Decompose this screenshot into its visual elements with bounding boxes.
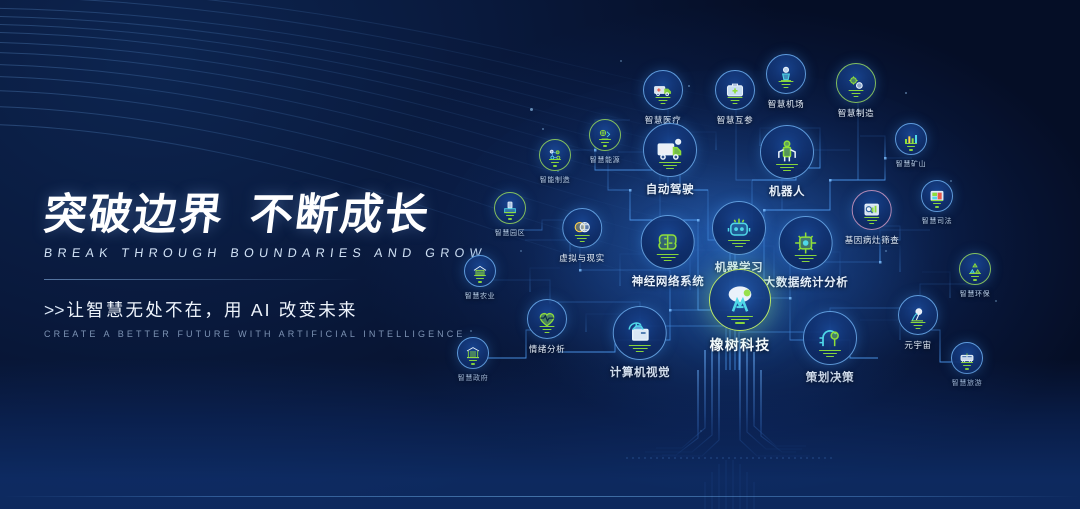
node-base-lines (728, 238, 750, 247)
node-ring (562, 208, 602, 248)
node-label: 自动驾驶 (643, 181, 697, 197)
node-ring (803, 311, 857, 365)
node-label: 智慧互参 (715, 114, 755, 126)
node-base-lines (864, 215, 879, 224)
node-ring (464, 255, 496, 287)
node-label: 智慧能源 (589, 155, 621, 165)
tree-node[interactable]: 元宇宙 (898, 295, 938, 351)
node-ring (494, 192, 526, 224)
tree-node[interactable]: 智慧制造 (836, 63, 876, 119)
hero-subtitle: >>让智慧无处不在，用 AI 改变未来 (44, 297, 464, 322)
tree-node[interactable]: 智慧园区 (494, 192, 526, 238)
node-label: 基因病灶筛查 (845, 234, 900, 246)
node-base-lines (931, 198, 943, 207)
node-label: 智慧司法 (921, 216, 953, 226)
page-title-part2: 不断成长 (247, 190, 433, 240)
tree-node[interactable]: 自动驾驶 (643, 123, 697, 197)
node-base-lines (659, 160, 681, 169)
chevron-right-icon: >> (44, 300, 64, 320)
poster-canvas: 突破边界不断成长 BREAK THROUGH BOUNDARIES AND GR… (0, 0, 1080, 509)
page-title-english: BREAK THROUGH BOUNDARIES AND GROW (43, 246, 465, 260)
tree-node[interactable]: 智慧农业 (464, 255, 496, 301)
horizon-line (0, 496, 1080, 497)
node-ring (760, 125, 814, 179)
node-ring (643, 70, 683, 110)
node-label: 大数据统计分析 (764, 274, 849, 290)
node-base-lines (657, 252, 679, 261)
hero-subtitle-english: CREATE A BETTER FUTURE WITH ARTIFICIAL I… (44, 329, 464, 339)
tree-node[interactable]: 智能制造 (539, 139, 571, 185)
node-base-lines (549, 157, 561, 166)
node-base-lines (969, 271, 981, 280)
node-label: 智慧矿山 (895, 159, 927, 169)
node-label: 元宇宙 (898, 339, 938, 351)
hero-text-block: 突破边界不断成长 BREAK THROUGH BOUNDARIES AND GR… (44, 193, 464, 339)
tree-node[interactable]: 机器学习 (712, 201, 766, 275)
node-label: 智慧机场 (766, 98, 806, 110)
tree-node[interactable]: 智慧能源 (589, 119, 621, 165)
node-label: 神经网络系统 (632, 273, 705, 289)
tree-node[interactable]: 机器人 (760, 125, 814, 199)
node-label: 智慧环保 (959, 289, 991, 299)
divider (44, 279, 362, 280)
node-label: 智能制造 (539, 175, 571, 185)
node-label: 智慧园区 (494, 228, 526, 238)
node-base-lines (574, 233, 589, 242)
node-ring (921, 180, 953, 212)
page-title-part1: 突破边界 (41, 190, 227, 240)
node-base-lines (776, 162, 798, 171)
node-base-lines (504, 210, 516, 219)
node-base-lines (779, 79, 794, 88)
node-ring (959, 253, 991, 285)
tree-node[interactable]: 智慧互参 (715, 70, 755, 126)
node-ring (766, 54, 806, 94)
floor-reflection (0, 359, 1080, 509)
tree-node[interactable]: 智慧医疗 (643, 70, 683, 126)
node-ring (852, 190, 892, 230)
tree-node[interactable]: 智慧司法 (921, 180, 953, 226)
node-base-lines (629, 343, 651, 352)
node-ring (895, 123, 927, 155)
node-base-lines (911, 320, 926, 329)
tree-node[interactable]: 智慧机场 (766, 54, 806, 110)
node-ring (527, 299, 567, 339)
node-ring (898, 295, 938, 335)
node-ring (712, 201, 766, 255)
node-ring (715, 70, 755, 110)
tree-node[interactable]: 情绪分析 (527, 299, 567, 355)
tree-node[interactable]: 神经网络系统 (632, 215, 705, 289)
node-ring (836, 63, 876, 103)
node-base-lines (599, 137, 611, 146)
tree-node[interactable]: 基因病灶筛查 (845, 190, 900, 246)
tree-node[interactable]: 智慧环保 (959, 253, 991, 299)
node-ring (613, 306, 667, 360)
node-ring (779, 216, 833, 270)
node-ring (539, 139, 571, 171)
node-label: 智慧农业 (464, 291, 496, 301)
ai-tree-icon (723, 283, 757, 317)
node-label: 虚拟与现实 (559, 252, 605, 264)
tree-node[interactable]: 大数据统计分析 (764, 216, 849, 290)
hero-subtitle-cn: 让智慧无处不在，用 AI 改变未来 (66, 300, 357, 320)
node-label: 机器人 (760, 183, 814, 199)
node-base-lines (795, 253, 817, 262)
node-base-lines (905, 141, 917, 150)
page-title: 突破边界不断成长 (41, 193, 467, 239)
node-label: 智慧制造 (836, 107, 876, 119)
tree-node[interactable]: 虚拟与现实 (559, 208, 605, 264)
node-ring (643, 123, 697, 177)
node-label: 情绪分析 (527, 343, 567, 355)
node-ring (641, 215, 695, 269)
tree-node[interactable]: 橡树科技 (709, 269, 771, 355)
node-base-lines (540, 324, 555, 333)
tree-node[interactable]: 智慧矿山 (895, 123, 927, 169)
node-label: 橡树科技 (709, 335, 771, 355)
node-base-lines (849, 88, 864, 97)
node-base-lines (728, 95, 743, 104)
node-base-lines (727, 314, 753, 323)
node-ring (709, 269, 771, 331)
node-base-lines (474, 273, 486, 282)
node-base-lines (819, 348, 841, 357)
node-base-lines (656, 95, 671, 104)
node-ring (589, 119, 621, 151)
